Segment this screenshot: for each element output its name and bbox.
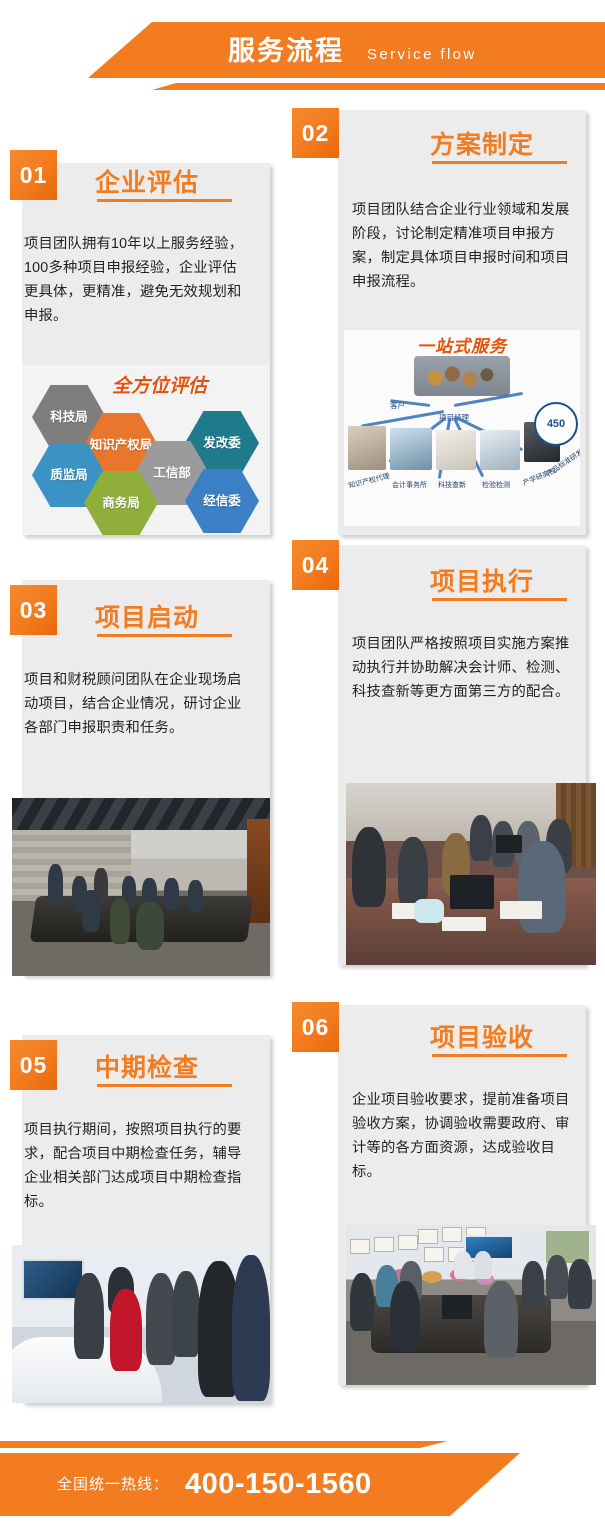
card-06-photo-boardroom bbox=[346, 1225, 596, 1385]
card-04-number-badge: 04 bbox=[292, 540, 339, 590]
onestop-arrow-6 bbox=[361, 410, 444, 428]
onestop-thumb-accounting bbox=[390, 428, 432, 470]
card-01-title: 企业评估 bbox=[95, 163, 199, 199]
page-title: 服务流程 bbox=[228, 33, 344, 69]
card-03-title-rule bbox=[97, 634, 232, 637]
card-02-title-rule bbox=[432, 161, 567, 164]
card-04-title-rule bbox=[432, 598, 567, 601]
hotline-label: 全国统一热线： bbox=[57, 1473, 169, 1497]
card-03-photo-meeting-room bbox=[12, 798, 270, 976]
card-06-number-badge: 06 bbox=[292, 1002, 339, 1052]
header: 服务流程 Service flow bbox=[0, 0, 605, 120]
footer: 全国统一热线： 400-150-1560 bbox=[0, 1423, 605, 1538]
card-04-body: 项目团队严格按照项目实施方案推动执行并协助解决会计师、检测、科技查新等更方面第三… bbox=[352, 632, 570, 704]
card-02-number-badge: 02 bbox=[292, 108, 339, 158]
card-05-number-badge: 05 bbox=[10, 1040, 57, 1090]
onestop-thumb-testing bbox=[480, 430, 520, 470]
onestop-branch-2: 会计事务所 bbox=[392, 480, 427, 490]
card-04-photo-working-table bbox=[346, 783, 596, 965]
card-06-body: 企业项目验收要求，提前准备项目验收方案，协调验收需要政府、审计等的各方面资源，达… bbox=[352, 1088, 570, 1184]
onestop-seal-icon: 450 bbox=[534, 402, 578, 446]
card-05-photo-exhibition-tour bbox=[12, 1245, 270, 1403]
page-subtitle: Service flow bbox=[367, 44, 477, 66]
card-03-body: 项目和财税顾问团队在企业现场启动项目，结合企业情况，研讨企业各部门申报职责和任务… bbox=[24, 668, 246, 740]
onestop-branch-1: 知识产权代理 bbox=[347, 471, 390, 491]
all-round-assessment-diagram: 全方位评估 科技局 知识产权局 发改委 质监局 工信部 商务局 经信委 bbox=[22, 365, 270, 535]
service-flow-infographic: 服务流程 Service flow 01 企业评估 项目团队拥有10年以上服务经… bbox=[0, 0, 605, 1538]
hotline-number: 400-150-1560 bbox=[185, 1464, 372, 1504]
onestop-hub-photo bbox=[414, 356, 510, 396]
onestop-branch-4: 检验检测 bbox=[482, 480, 510, 490]
footer-accent-stripe bbox=[0, 1441, 605, 1448]
card-01-number-badge: 01 bbox=[10, 150, 57, 200]
card-03-number-badge: 03 bbox=[10, 585, 57, 635]
card-02-title: 方案制定 bbox=[430, 125, 534, 161]
card-05-body: 项目执行期间，按照项目执行的要求，配合项目中期检查任务，辅导企业相关部门达成项目… bbox=[24, 1118, 246, 1214]
one-stop-service-diagram: 一站式服务 客户 项目经理 450 知识产权代理 会计事务所 科技查新 检验检测… bbox=[344, 330, 580, 526]
card-05-title-rule bbox=[97, 1084, 232, 1087]
card-06-title-rule bbox=[432, 1054, 567, 1057]
card-01-body: 项目团队拥有10年以上服务经验，100多种项目申报经验，企业评估更具体，更精准，… bbox=[24, 232, 246, 328]
card-01-title-rule bbox=[97, 199, 232, 202]
card-06-title: 项目验收 bbox=[430, 1018, 534, 1054]
onestop-thumb-ip bbox=[348, 426, 386, 470]
onestop-branch-3: 科技查新 bbox=[438, 480, 466, 490]
card-02-body: 项目团队结合企业行业领域和发展阶段，讨论制定精准项目申报方案，制定具体项目申报时… bbox=[352, 198, 570, 294]
card-05-title: 中期检查 bbox=[95, 1048, 199, 1084]
onestop-title: 一站式服务 bbox=[417, 332, 507, 357]
header-accent-stripe bbox=[0, 83, 605, 90]
card-04-title: 项目执行 bbox=[430, 562, 534, 598]
card-03-title: 项目启动 bbox=[95, 598, 199, 634]
onestop-thumb-search bbox=[436, 430, 476, 470]
hex-diagram-title: 全方位评估 bbox=[112, 371, 207, 398]
